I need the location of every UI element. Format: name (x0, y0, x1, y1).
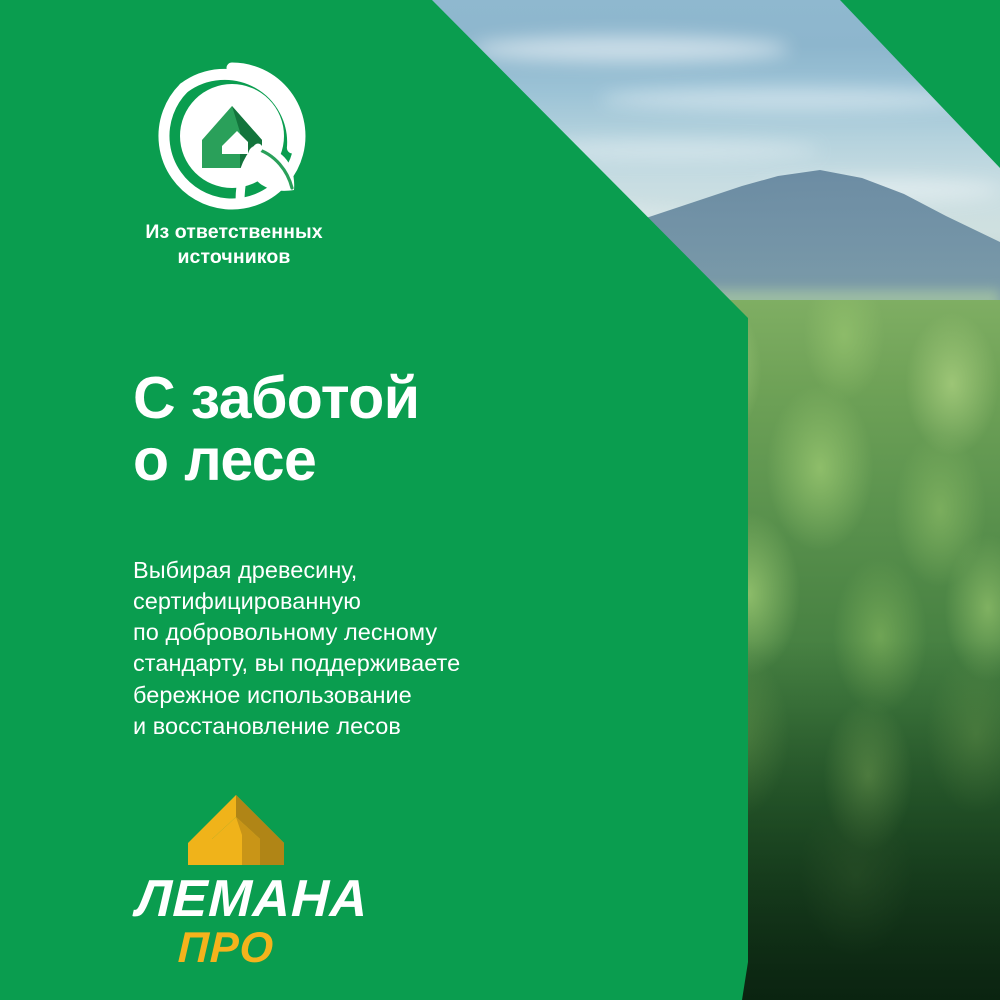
poster-canvas: Из ответственных источников С заботой о … (0, 0, 1000, 1000)
eco-house-leaf-circle-icon (158, 62, 306, 210)
lemana-house-icon (184, 793, 288, 867)
lemana-pro-logo: ЛЕМАНА ПРО (136, 793, 376, 970)
eco-badge-caption: Из ответственных источников (124, 220, 344, 270)
body-paragraph: Выбирая древесину, сертифицированную по … (133, 555, 553, 743)
brand-name-text: ЛЕМАНА (135, 875, 377, 925)
brand-sub-text: ПРО (177, 927, 377, 970)
eco-certification-badge: Из ответственных источников (130, 62, 450, 270)
poster-content: Из ответственных источников С заботой о … (0, 0, 1000, 1000)
page-title: С заботой о лесе (133, 367, 419, 492)
